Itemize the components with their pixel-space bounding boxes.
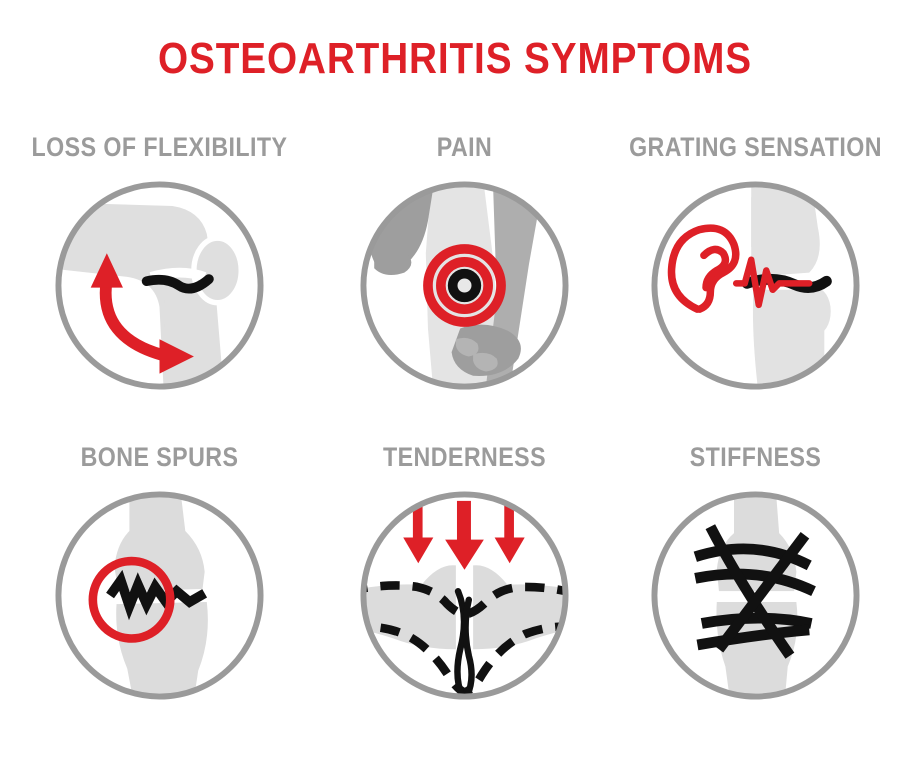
ear-icon [671,228,735,309]
osteoarthritis-symptoms-infographic: OSTEOARTHRITIS SYMPTOMS LOSS OF FLEXIBIL… [0,0,910,772]
symptom-icon-bone-spurs [8,474,311,724]
center-crease-left [457,591,464,696]
arrow-center-shaft [457,501,471,546]
pain-target [428,249,501,322]
knee-joint-with-red-circle-highlight-icon [52,488,267,703]
symptom-icon-pain [313,164,616,414]
symptom-card-grating-sensation: GRATING SENSATION [604,130,907,450]
knee-joint-with-three-down-arrows-icon [357,488,572,703]
symptom-icon-tenderness [313,474,616,724]
arrow-center-head [445,540,484,570]
symptom-label: TENDERNESS [334,440,595,474]
patella-shape [194,238,241,303]
arrow-right-head [495,537,525,563]
fibula-shaft [807,316,824,393]
ear-with-soundwave-and-knee-joint-icon [648,178,863,393]
symptom-card-stiffness: STIFFNESS [604,440,907,760]
symptom-label: BONE SPURS [29,440,290,474]
symptom-icon-stiffness [604,474,907,724]
symptom-label: LOSS OF FLEXIBILITY [29,130,290,164]
leg-held-by-hands-with-pain-target-icon [357,178,572,393]
symptom-icon-grating-sensation [604,164,907,414]
symptom-grid: LOSS OF FLEXIBILITY [0,130,910,770]
symptom-card-bone-spurs: BONE SPURS [8,440,311,760]
knee-bent-with-curved-double-arrow-icon [52,178,267,393]
symptom-card-pain: PAIN [313,130,616,450]
symptom-icon-loss-of-flexibility [8,164,311,414]
symptom-card-loss-of-flexibility: LOSS OF FLEXIBILITY [8,130,311,450]
pressure-arrows [403,501,524,570]
knee-joint-wrapped-with-black-straps-icon [648,488,863,703]
arrow-left-head [403,537,433,563]
symptom-card-tenderness: TENDERNESS [313,440,616,760]
pain-ring-inner [453,274,477,298]
page-title: OSTEOARTHRITIS SYMPTOMS [55,34,856,84]
symptom-label: PAIN [334,130,595,164]
symptom-label: STIFFNESS [625,440,886,474]
strap-3 [702,618,812,623]
femur-body [751,197,816,246]
symptom-label: GRATING SENSATION [625,130,886,164]
